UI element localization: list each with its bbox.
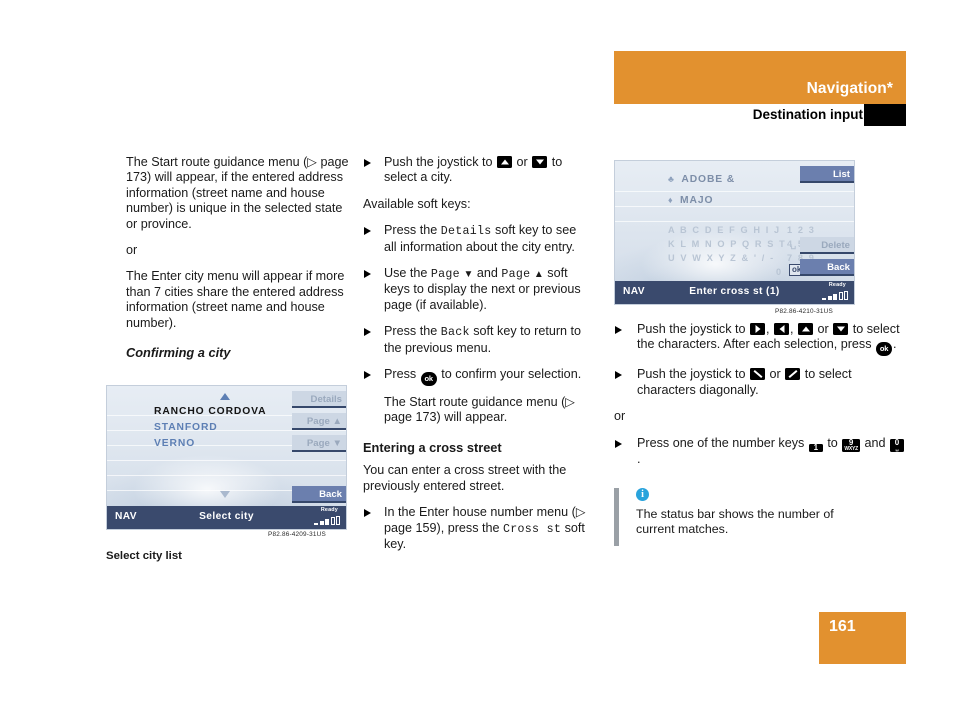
left-para-2: The Enter city menu will appear if more … [126, 269, 349, 331]
text: or [517, 155, 528, 169]
list-item[interactable]: VERNO [154, 438, 267, 449]
bullet-triangle-icon [364, 328, 371, 336]
text: Push the joystick to [637, 367, 746, 381]
triangle-down-icon: ▼ [463, 269, 473, 280]
available-softkeys-label: Available soft keys: [363, 197, 586, 212]
list-item: Press the Back soft key to return to the… [363, 324, 586, 356]
page-number-box: 161 [819, 612, 906, 664]
figure-caption-left: Select city list [106, 550, 182, 562]
text: Push the joystick to [384, 155, 493, 169]
crossroads-icon: ♣ [668, 174, 674, 184]
number-key-1-icon: 1 [809, 444, 823, 452]
joystick-diagonal-up-key-icon [785, 368, 800, 380]
text: Press one of the number keys [637, 436, 804, 450]
text: to [827, 436, 838, 450]
bullet-triangle-icon [615, 326, 622, 334]
scroll-up-arrow-icon[interactable] [220, 393, 230, 400]
bullet-triangle-icon [364, 227, 371, 235]
softkey-page-down[interactable]: Page ▼ [292, 435, 346, 452]
text: and [864, 436, 885, 450]
text: and [477, 266, 498, 280]
note-text: The status bar shows the number of curre… [636, 507, 856, 538]
scroll-down-arrow-icon[interactable] [220, 491, 230, 498]
header-subtitle-wrap: Destination input [614, 104, 906, 126]
softkey-name-page-down: Page [431, 268, 460, 281]
softkey-page-up[interactable]: Page ▲ [292, 413, 346, 430]
match-list: ♣ ADOBE & ♦ MAJO [668, 169, 735, 208]
list-item: Push the joystick to or to select charac… [614, 367, 906, 398]
softkey-name-cross-st: Cross st [503, 523, 561, 536]
list-item: Press the Details soft key to see all in… [363, 223, 586, 255]
char-row-letters[interactable]: A B C D E F G H I J [668, 225, 781, 235]
softkey-name-back: Back [441, 326, 470, 339]
joystick-left-key-icon [774, 323, 789, 335]
info-icon: i [636, 488, 649, 501]
ok-button-icon: ok [421, 372, 437, 386]
text: or [770, 367, 781, 381]
status-bar: NAV Enter cross st (1) Ready [615, 281, 854, 304]
info-note: i The status bar shows the number of cur… [614, 488, 906, 546]
list-item-label: ADOBE & [681, 174, 735, 185]
status-ready-label: Ready [321, 507, 338, 513]
bullet-triangle-icon [364, 509, 371, 517]
list-item: Press ok to confirm your selection. The … [363, 367, 586, 426]
bullet-triangle-icon [364, 371, 371, 379]
signal-bars-icon [314, 516, 340, 525]
bullet-triangle-icon [364, 270, 371, 278]
status-bar: NAV Select city Ready [107, 506, 346, 529]
middle-para: You can enter a cross street with the pr… [363, 463, 586, 494]
char-row-letters[interactable]: K L M N O P Q R S T ␣ [668, 239, 798, 250]
road-icon: ♦ [668, 195, 673, 205]
list-item[interactable]: STANFORD [154, 422, 267, 433]
list-item: In the Enter house number menu (▷ page 1… [363, 505, 586, 552]
softkey-name-page-up: Page [501, 268, 530, 281]
joystick-up-key-icon [798, 323, 813, 335]
left-heading-confirming-a-city: Confirming a city [126, 345, 349, 360]
right-column: Push the joystick to , , or to select th… [614, 322, 906, 478]
list-item-subtext: The Start route guidance menu (▷ page 17… [384, 395, 586, 426]
list-item[interactable]: ♦ MAJO [668, 190, 735, 208]
list-item: Push the joystick to , , or to select th… [614, 322, 906, 356]
ok-button-icon: ok [876, 342, 892, 356]
softkey-delete[interactable]: Delete [800, 237, 854, 254]
signal-bars-icon [822, 291, 848, 300]
joystick-diagonal-down-key-icon [750, 368, 765, 380]
figure-code-left: P82.86-4209-31US [268, 531, 326, 538]
page-number: 161 [829, 618, 856, 636]
list-item: Press one of the number keys 1 to 9 WXYZ… [614, 436, 906, 467]
left-para-1: The Start route guidance menu (▷ page 17… [126, 155, 349, 232]
middle-column: Push the joystick to or to select a city… [363, 155, 586, 563]
list-item[interactable]: ♣ ADOBE & [668, 169, 735, 187]
joystick-up-key-icon [497, 156, 512, 168]
header-subtitle: Destination input [753, 107, 863, 122]
page-title: Navigation* [807, 80, 893, 98]
left-column: The Start route guidance menu (▷ page 17… [126, 155, 349, 368]
status-title: Enter cross st (1) [615, 286, 854, 297]
softkey-back[interactable]: Back [292, 486, 346, 503]
bullet-triangle-icon [615, 371, 622, 379]
bullet-triangle-icon [615, 440, 622, 448]
text: or [818, 322, 829, 336]
char-row-numbers[interactable]: 1 2 3 [787, 225, 815, 235]
text: . [637, 452, 641, 466]
joystick-down-key-icon [833, 323, 848, 335]
char-row-letters[interactable]: U V W X Y Z & ' / - [668, 253, 775, 263]
status-title: Select city [107, 511, 346, 522]
softkey-name-details: Details [441, 225, 492, 238]
list-item: Push the joystick to or to select a city… [363, 155, 586, 186]
note-accent-bar [614, 488, 619, 546]
cross-street-screen: ♣ ADOBE & ♦ MAJO A B C D E F G H I J 1 2… [614, 160, 855, 305]
list-item-label: MAJO [680, 195, 713, 206]
manual-page: { "header": { "title": "Navigation*", "s… [0, 0, 954, 716]
city-list: RANCHO CORDOVA STANFORD VERNO [154, 406, 267, 449]
list-item: Use the Page ▼ and Page ▲ soft keys to d… [363, 266, 586, 313]
text: to confirm your selection. [441, 367, 581, 381]
triangle-up-icon: ▲ [534, 269, 544, 280]
header-title-wrap: Navigation* [614, 51, 906, 104]
text: . [893, 337, 897, 351]
right-or: or [614, 409, 906, 424]
text: Press [384, 367, 416, 381]
softkey-back[interactable]: Back [800, 259, 854, 276]
header-black-tab [864, 104, 906, 126]
list-item[interactable]: RANCHO CORDOVA [154, 406, 267, 417]
select-city-screen: RANCHO CORDOVA STANFORD VERNO Details Pa… [106, 385, 347, 530]
softkey-list[interactable]: List [800, 166, 854, 183]
bullet-triangle-icon [364, 159, 371, 167]
number-key-0-icon: 0 ␣ [890, 439, 904, 452]
char-zero[interactable]: 0 [776, 267, 783, 277]
joystick-right-key-icon [750, 323, 765, 335]
figure-code-right: P82.86-4210-31US [775, 308, 833, 315]
joystick-down-key-icon [532, 156, 547, 168]
softkey-details[interactable]: Details [292, 391, 346, 408]
text: Press the [384, 223, 437, 237]
left-or: or [126, 243, 349, 258]
text: Push the joystick to [637, 322, 746, 336]
text: Use the [384, 266, 427, 280]
heading-entering-a-cross-street: Entering a cross street [363, 440, 586, 455]
number-key-9-icon: 9 WXYZ [842, 439, 860, 452]
text: Press the [384, 324, 437, 338]
status-ready-label: Ready [829, 282, 846, 288]
